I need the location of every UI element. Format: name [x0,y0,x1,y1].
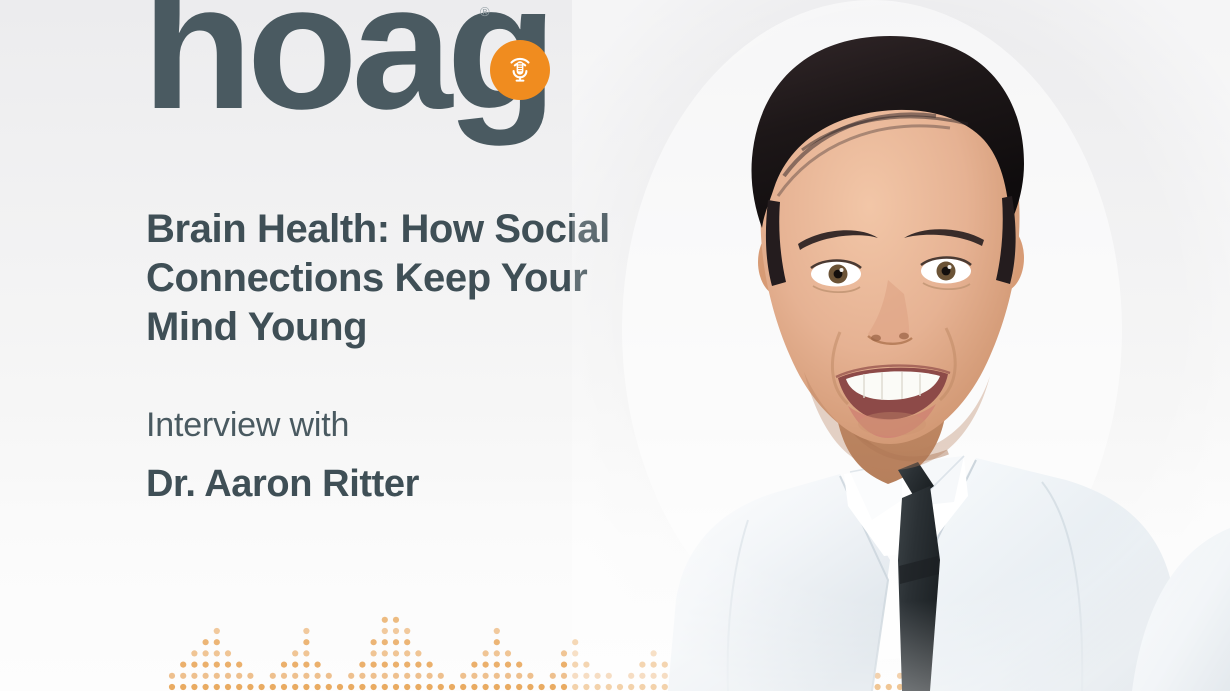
guest-portrait-photo [572,0,1230,691]
podcast-microphone-icon [490,40,550,100]
hoag-brand-logo: hoag [142,0,543,136]
registered-trademark-icon: ® [480,4,490,19]
podcast-episode-cover: hoag ® Brain Health: How Social Connecti… [0,0,1230,691]
